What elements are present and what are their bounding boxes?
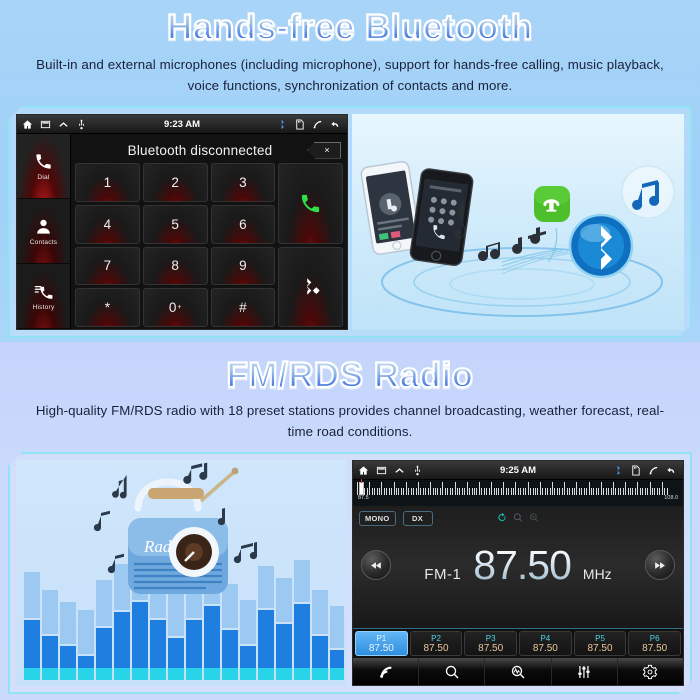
tuning-tick bbox=[398, 488, 399, 495]
tuning-tick bbox=[581, 488, 582, 495]
preset-p5[interactable]: P5 87.50 bbox=[574, 631, 627, 656]
tuning-tick bbox=[406, 482, 407, 495]
radio-head-unit-screen: 9:25 AM 87.5 108.0 MONO bbox=[352, 460, 684, 686]
tuning-tick bbox=[564, 482, 565, 495]
tuning-tick bbox=[659, 488, 660, 495]
person-icon bbox=[34, 217, 53, 236]
chevron-up-icon[interactable] bbox=[58, 119, 69, 130]
preset-frequency: 87.50 bbox=[478, 643, 503, 654]
tuning-tick bbox=[401, 488, 402, 495]
tuning-tick bbox=[632, 488, 633, 495]
radio-illustration: Radio bbox=[16, 460, 346, 686]
bluetooth-settings-icon bbox=[299, 275, 322, 298]
tuning-tick bbox=[442, 482, 443, 495]
tuning-tick bbox=[652, 488, 653, 495]
tuning-tick bbox=[396, 488, 397, 495]
tuning-scale[interactable]: 87.5 108.0 bbox=[353, 480, 683, 506]
bluetooth-icon[interactable] bbox=[612, 465, 623, 476]
frequency-unit: MHz bbox=[583, 566, 612, 582]
rds-signal-icon bbox=[378, 664, 394, 680]
tuning-tick bbox=[506, 488, 507, 495]
bluetooth-subtitle: Built-in and external microphones (inclu… bbox=[30, 55, 670, 96]
bt-status-left-icons bbox=[22, 119, 87, 130]
tuning-tick bbox=[552, 482, 553, 495]
tuning-tick bbox=[462, 488, 463, 495]
tuning-tick bbox=[550, 488, 551, 495]
tuning-tick bbox=[474, 488, 475, 495]
tuning-tick bbox=[496, 488, 497, 495]
tuning-tick bbox=[416, 488, 417, 495]
tuning-tick bbox=[447, 488, 448, 495]
preset-p4[interactable]: P4 87.50 bbox=[519, 631, 572, 656]
bluetooth-scene bbox=[352, 114, 684, 330]
sd-card-icon[interactable] bbox=[294, 119, 305, 130]
tuning-tick bbox=[533, 488, 534, 495]
antenna bbox=[202, 468, 238, 500]
recents-icon[interactable] bbox=[376, 465, 387, 476]
search-icon bbox=[444, 664, 460, 680]
preset-p3[interactable]: P3 87.50 bbox=[464, 631, 517, 656]
bt-header-row: Bluetooth disconnected × bbox=[75, 137, 343, 163]
tuning-tick bbox=[584, 488, 585, 495]
tuning-tick bbox=[608, 488, 609, 495]
bluetooth-icon[interactable] bbox=[276, 119, 287, 130]
sd-card-icon[interactable] bbox=[630, 465, 641, 476]
tuning-tick bbox=[481, 488, 482, 495]
key-star[interactable]: * bbox=[75, 288, 140, 327]
tuning-tick bbox=[372, 488, 373, 495]
auto-scan-icon[interactable] bbox=[529, 512, 540, 523]
tuning-tick bbox=[411, 488, 412, 495]
key-zero-plus: + bbox=[177, 304, 181, 311]
tuning-tick bbox=[459, 488, 460, 495]
tuning-tick bbox=[498, 488, 499, 495]
tuning-tick bbox=[579, 488, 580, 495]
tuning-tick bbox=[645, 488, 646, 495]
tuning-tick bbox=[508, 488, 509, 495]
previous-station-button[interactable] bbox=[361, 550, 391, 580]
home-icon[interactable] bbox=[22, 119, 33, 130]
tuning-tick bbox=[464, 488, 465, 495]
radio-status-right-icons bbox=[612, 465, 677, 476]
key-7[interactable]: 7 bbox=[75, 247, 140, 286]
key-9[interactable]: 9 bbox=[211, 247, 276, 286]
tuning-tick bbox=[511, 488, 512, 495]
tuning-tick bbox=[484, 488, 485, 495]
dial-keypad: 1 2 3 4 5 6 7 8 9 * bbox=[75, 163, 343, 327]
sidebar-item-history[interactable]: History bbox=[17, 264, 70, 329]
backspace-label: × bbox=[318, 145, 329, 155]
preset-p1[interactable]: P1 87.50 bbox=[355, 631, 408, 656]
tuning-tick bbox=[435, 488, 436, 495]
equalizer-icon bbox=[576, 664, 592, 680]
backspace-button[interactable]: × bbox=[307, 142, 341, 159]
tuning-tick bbox=[562, 488, 563, 495]
bluetooth-illustration bbox=[352, 114, 684, 330]
key-zero[interactable]: 0+ bbox=[143, 288, 208, 327]
mode-buttons: MONO DX bbox=[359, 511, 433, 526]
next-station-button[interactable] bbox=[645, 550, 675, 580]
tuning-tick bbox=[615, 488, 616, 495]
key-1[interactable]: 1 bbox=[75, 163, 140, 202]
radio-body: 87.5 108.0 MONO DX bbox=[353, 480, 683, 686]
tuning-tick bbox=[537, 488, 538, 495]
tuning-tick bbox=[574, 488, 575, 495]
tuning-tick bbox=[567, 488, 568, 495]
preset-list: P1 87.50 P2 87.50 P3 87.50 P4 87.50 P5 bbox=[353, 628, 683, 658]
sidebar-item-contacts[interactable]: Contacts bbox=[17, 199, 70, 264]
key-4[interactable]: 4 bbox=[75, 205, 140, 244]
tuning-tick bbox=[606, 488, 607, 495]
auto-scan-button[interactable] bbox=[485, 658, 551, 686]
tuning-tick bbox=[596, 488, 597, 495]
preset-name: P4 bbox=[540, 634, 550, 643]
frequency-readout: FM-1 87.50 MHz bbox=[424, 546, 611, 585]
tuning-tick bbox=[654, 488, 655, 495]
tuning-tick bbox=[640, 488, 641, 495]
tuning-tick bbox=[569, 488, 570, 495]
tuning-tick bbox=[601, 482, 602, 495]
sidebar-label-history: History bbox=[33, 304, 55, 311]
tuning-tick bbox=[418, 482, 419, 495]
tuning-tick bbox=[515, 482, 516, 495]
tuning-tick bbox=[542, 488, 543, 495]
preset-name: P2 bbox=[431, 634, 441, 643]
radio-status-bar: 9:25 AM bbox=[353, 461, 683, 480]
tuning-tick bbox=[576, 482, 577, 495]
radio-display: MONO DX FM-1 87.50 MHz bbox=[353, 506, 683, 628]
sidebar-label-dial: Dial bbox=[37, 174, 49, 181]
recents-icon[interactable] bbox=[40, 119, 51, 130]
tuning-tick bbox=[620, 488, 621, 495]
bt-connection-status: Bluetooth disconnected bbox=[75, 143, 307, 158]
tuning-tick bbox=[557, 488, 558, 495]
key-6[interactable]: 6 bbox=[211, 205, 276, 244]
tuning-tick bbox=[618, 488, 619, 495]
tuning-tick bbox=[623, 488, 624, 495]
key-2[interactable]: 2 bbox=[143, 163, 208, 202]
tuning-tick bbox=[386, 488, 387, 495]
refresh-icon[interactable] bbox=[497, 512, 508, 523]
radio-toolbar bbox=[353, 658, 683, 686]
rewind-icon bbox=[370, 559, 383, 572]
green-phone-app-icon bbox=[534, 186, 570, 222]
back-icon[interactable] bbox=[666, 465, 677, 476]
preset-name: P6 bbox=[650, 634, 660, 643]
tuning-tick bbox=[476, 488, 477, 495]
tuning-tick bbox=[657, 488, 658, 495]
tuning-tick bbox=[457, 488, 458, 495]
bluetooth-heading: Hands-free Bluetooth bbox=[0, 8, 700, 48]
preset-frequency: 87.50 bbox=[642, 643, 667, 654]
tuning-tick bbox=[425, 488, 426, 495]
tuning-tick bbox=[420, 488, 421, 495]
bluetooth-head-unit-screen: 9:23 AM Dial Contacts bbox=[16, 114, 348, 330]
tuning-tick bbox=[455, 482, 456, 495]
tuning-max-label: 108.0 bbox=[664, 495, 678, 501]
tuning-cursor[interactable] bbox=[359, 482, 364, 495]
preset-p2[interactable]: P2 87.50 bbox=[410, 631, 463, 656]
chevron-up-icon[interactable] bbox=[394, 465, 405, 476]
tuning-tick bbox=[433, 488, 434, 495]
tuning-tick bbox=[613, 482, 614, 495]
tuning-tick bbox=[357, 482, 358, 495]
key-5[interactable]: 5 bbox=[143, 205, 208, 244]
tuning-tick bbox=[530, 488, 531, 495]
bt-body: Dial Contacts History Bluetooth disconne… bbox=[17, 134, 347, 330]
search-icon[interactable] bbox=[513, 512, 524, 523]
tuning-tick bbox=[389, 488, 390, 495]
tuning-tick bbox=[520, 488, 521, 495]
tuning-tick bbox=[664, 488, 665, 495]
preset-frequency: 87.50 bbox=[533, 643, 558, 654]
frequency-row: FM-1 87.50 MHz bbox=[353, 534, 683, 596]
bt-status-bar: 9:23 AM bbox=[17, 115, 347, 134]
tuning-tick bbox=[650, 482, 651, 495]
tuning-tick bbox=[667, 488, 668, 495]
bt-status-right-icons bbox=[276, 119, 341, 130]
mono-button[interactable]: MONO bbox=[359, 511, 396, 526]
bluetooth-sphere-icon bbox=[570, 215, 632, 277]
bt-dialer: Bluetooth disconnected × 1 2 3 4 5 6 7 bbox=[71, 134, 347, 330]
preset-frequency: 87.50 bbox=[423, 643, 448, 654]
key-8[interactable]: 8 bbox=[143, 247, 208, 286]
call-icon bbox=[299, 192, 322, 215]
key-hash[interactable]: # bbox=[211, 288, 276, 327]
radio-status-left-icons bbox=[358, 465, 423, 476]
tuning-tick bbox=[603, 488, 604, 495]
tuning-tick bbox=[593, 488, 594, 495]
tuning-tick bbox=[523, 488, 524, 495]
tuning-tick bbox=[528, 482, 529, 495]
tuning-tick bbox=[598, 488, 599, 495]
usb-icon[interactable] bbox=[412, 465, 423, 476]
dx-button[interactable]: DX bbox=[403, 511, 433, 526]
bluetooth-settings-button[interactable] bbox=[278, 247, 343, 328]
tuning-tick bbox=[589, 482, 590, 495]
tuning-tick bbox=[472, 488, 473, 495]
tuning-tick bbox=[408, 488, 409, 495]
tuning-tick bbox=[662, 482, 663, 495]
music-bubble bbox=[622, 166, 674, 218]
tuning-tick bbox=[381, 482, 382, 495]
scan-indicators bbox=[497, 512, 540, 523]
tuning-tick bbox=[486, 488, 487, 495]
tuning-tick bbox=[391, 488, 392, 495]
tuning-tick bbox=[547, 488, 548, 495]
tuning-tick bbox=[467, 482, 468, 495]
tuning-ticks bbox=[357, 482, 679, 495]
tuning-tick bbox=[367, 488, 368, 495]
tuning-min-label: 87.5 bbox=[358, 495, 369, 501]
wifi-icon[interactable] bbox=[312, 119, 323, 130]
call-button[interactable] bbox=[278, 163, 343, 244]
infographic-page: Hands-free Bluetooth Built-in and extern… bbox=[0, 0, 700, 700]
tuning-tick bbox=[489, 488, 490, 495]
preset-name: P5 bbox=[595, 634, 605, 643]
tuning-tick bbox=[440, 488, 441, 495]
tuning-tick bbox=[513, 488, 514, 495]
tuning-tick bbox=[394, 482, 395, 495]
tuning-tick bbox=[423, 488, 424, 495]
key-zero-label: 0 bbox=[169, 300, 177, 315]
tuning-tick bbox=[450, 488, 451, 495]
tuning-range-labels: 87.5 108.0 bbox=[357, 495, 679, 501]
tuning-tick bbox=[403, 488, 404, 495]
tuning-tick bbox=[628, 488, 629, 495]
tuning-tick bbox=[384, 488, 385, 495]
tuning-tick bbox=[437, 488, 438, 495]
sidebar-item-dial[interactable]: Dial bbox=[17, 134, 70, 199]
tuning-tick bbox=[637, 482, 638, 495]
tuning-tick bbox=[647, 488, 648, 495]
tuning-tick bbox=[452, 488, 453, 495]
tuning-tick bbox=[374, 488, 375, 495]
tuning-tick bbox=[535, 488, 536, 495]
tuning-tick bbox=[503, 482, 504, 495]
tuning-tick bbox=[430, 482, 431, 495]
fast-forward-icon bbox=[653, 559, 666, 572]
tuning-tick bbox=[586, 488, 587, 495]
tuning-tick bbox=[540, 482, 541, 495]
tuning-tick bbox=[554, 488, 555, 495]
tuning-tick bbox=[445, 488, 446, 495]
tuning-tick bbox=[559, 488, 560, 495]
bt-sidebar: Dial Contacts History bbox=[17, 134, 71, 330]
tuning-tick bbox=[364, 488, 365, 495]
tuning-tick bbox=[545, 488, 546, 495]
tuning-tick bbox=[625, 482, 626, 495]
settings-gear-icon bbox=[642, 664, 658, 680]
tuning-tick bbox=[469, 488, 470, 495]
preset-name: P3 bbox=[486, 634, 496, 643]
rds-button[interactable] bbox=[353, 658, 419, 686]
usb-icon[interactable] bbox=[76, 119, 87, 130]
tuning-tick bbox=[501, 488, 502, 495]
tuning-tick bbox=[591, 488, 592, 495]
tuning-tick bbox=[379, 488, 380, 495]
tuning-tick bbox=[413, 488, 414, 495]
auto-scan-icon bbox=[510, 664, 526, 680]
tuning-tick bbox=[635, 488, 636, 495]
tuning-tick bbox=[369, 482, 370, 495]
tuning-tick bbox=[518, 488, 519, 495]
call-log-icon bbox=[34, 282, 53, 301]
preset-p6[interactable]: P6 87.50 bbox=[628, 631, 681, 656]
equalizer-button[interactable] bbox=[552, 658, 618, 686]
radio-subtitle: High-quality FM/RDS radio with 18 preset… bbox=[30, 401, 670, 442]
back-icon[interactable] bbox=[330, 119, 341, 130]
tuning-tick bbox=[428, 488, 429, 495]
sidebar-label-contacts: Contacts bbox=[30, 239, 58, 246]
key-3[interactable]: 3 bbox=[211, 163, 276, 202]
tuning-tick bbox=[642, 488, 643, 495]
preset-frequency: 87.50 bbox=[369, 643, 394, 654]
tuning-tick bbox=[611, 488, 612, 495]
tuning-tick bbox=[525, 488, 526, 495]
radio-scene: Radio bbox=[16, 460, 346, 686]
tuning-tick bbox=[572, 488, 573, 495]
preset-frequency: 87.50 bbox=[588, 643, 613, 654]
home-icon[interactable] bbox=[358, 465, 369, 476]
retro-radio: Radio bbox=[128, 482, 228, 594]
tuning-tick bbox=[630, 488, 631, 495]
radio-heading: FM/RDS Radio bbox=[0, 356, 700, 396]
tuning-tick bbox=[494, 488, 495, 495]
band-label: FM-1 bbox=[424, 566, 461, 583]
search-button[interactable] bbox=[419, 658, 485, 686]
phone-icon bbox=[34, 152, 53, 171]
wifi-icon[interactable] bbox=[648, 465, 659, 476]
tuning-tick bbox=[377, 488, 378, 495]
frequency-value: 87.50 bbox=[473, 546, 571, 585]
tuning-tick bbox=[479, 482, 480, 495]
settings-button[interactable] bbox=[618, 658, 683, 686]
tuning-tick bbox=[491, 482, 492, 495]
preset-name: P1 bbox=[376, 634, 386, 643]
